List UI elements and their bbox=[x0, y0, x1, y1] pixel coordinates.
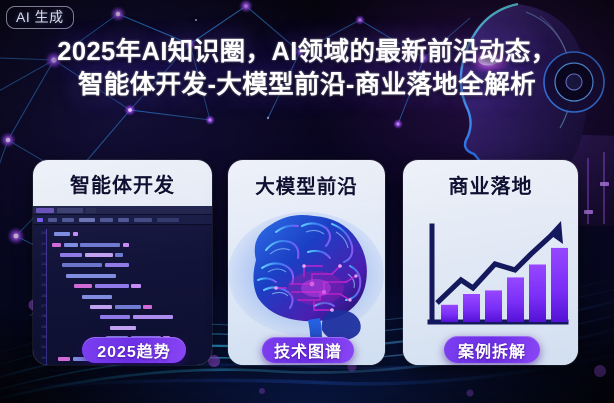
code-line: 23 bbox=[33, 260, 212, 270]
ide-toolbar-item bbox=[79, 218, 95, 222]
code-line: 26 bbox=[33, 291, 212, 301]
card-title: 大模型前沿 bbox=[228, 170, 385, 199]
poster-canvas: AI 生成 2025年AI知识圈，AI领域的最新前沿动态， 智能体开发-大模型前… bbox=[0, 0, 614, 403]
feature-cards: 智能体开发 bbox=[0, 160, 614, 365]
code-line: 20 bbox=[33, 229, 212, 239]
code-line: 25 bbox=[33, 281, 212, 291]
card-title: 商业落地 bbox=[403, 170, 578, 199]
code-line: 22 bbox=[33, 250, 212, 260]
page-title: 2025年AI知识圈，AI领域的最新前沿动态， 智能体开发-大模型前沿-商业落地… bbox=[0, 36, 614, 102]
title-line-2: 智能体开发-大模型前沿-商业落地全解析 bbox=[12, 69, 602, 102]
card-commercial-landing[interactable]: 商业落地 bbox=[403, 160, 578, 365]
ide-toolbar-item bbox=[48, 218, 57, 222]
ide-tab bbox=[86, 208, 96, 213]
bar bbox=[529, 265, 546, 323]
code-line: 24 bbox=[33, 271, 212, 281]
bar-series bbox=[441, 248, 568, 322]
code-line: 28 bbox=[33, 312, 212, 322]
ide-tab bbox=[36, 208, 54, 213]
ide-toolbar-item bbox=[62, 218, 74, 222]
ai-generated-badge: AI 生成 bbox=[6, 6, 74, 29]
title-line-1: 2025年AI知识圈，AI领域的最新前沿动态， bbox=[57, 38, 556, 66]
ide-toolbar bbox=[33, 215, 212, 225]
ide-toolbar-item bbox=[118, 218, 129, 222]
card-agent-development[interactable]: 智能体开发 bbox=[33, 160, 212, 365]
code-line: 27 bbox=[33, 302, 212, 312]
bar bbox=[463, 294, 480, 322]
ide-toolbar-item bbox=[134, 218, 152, 222]
card-pill-2025-trend[interactable]: 2025趋势 bbox=[82, 337, 186, 363]
bar bbox=[507, 277, 524, 322]
ide-tab bbox=[57, 208, 83, 213]
ide-tab-bar bbox=[33, 206, 212, 215]
card-title: 智能体开发 bbox=[33, 169, 212, 198]
ide-toolbar-item bbox=[100, 218, 113, 222]
code-line: 33 bbox=[33, 364, 212, 365]
card-large-model-frontier[interactable]: 大模型前沿 bbox=[228, 160, 385, 365]
bar bbox=[485, 290, 502, 322]
bar bbox=[551, 248, 568, 322]
card-pill-tech-map[interactable]: 技术图谱 bbox=[262, 337, 354, 363]
bar bbox=[441, 305, 458, 322]
ide-indent-guide bbox=[46, 229, 47, 365]
code-line: 21 bbox=[33, 239, 212, 249]
card-pill-case-study[interactable]: 案例拆解 bbox=[444, 336, 540, 363]
code-line: 29 bbox=[33, 323, 212, 333]
ide-toolbar-item bbox=[157, 218, 179, 222]
ide-toolbar-item bbox=[37, 218, 43, 222]
